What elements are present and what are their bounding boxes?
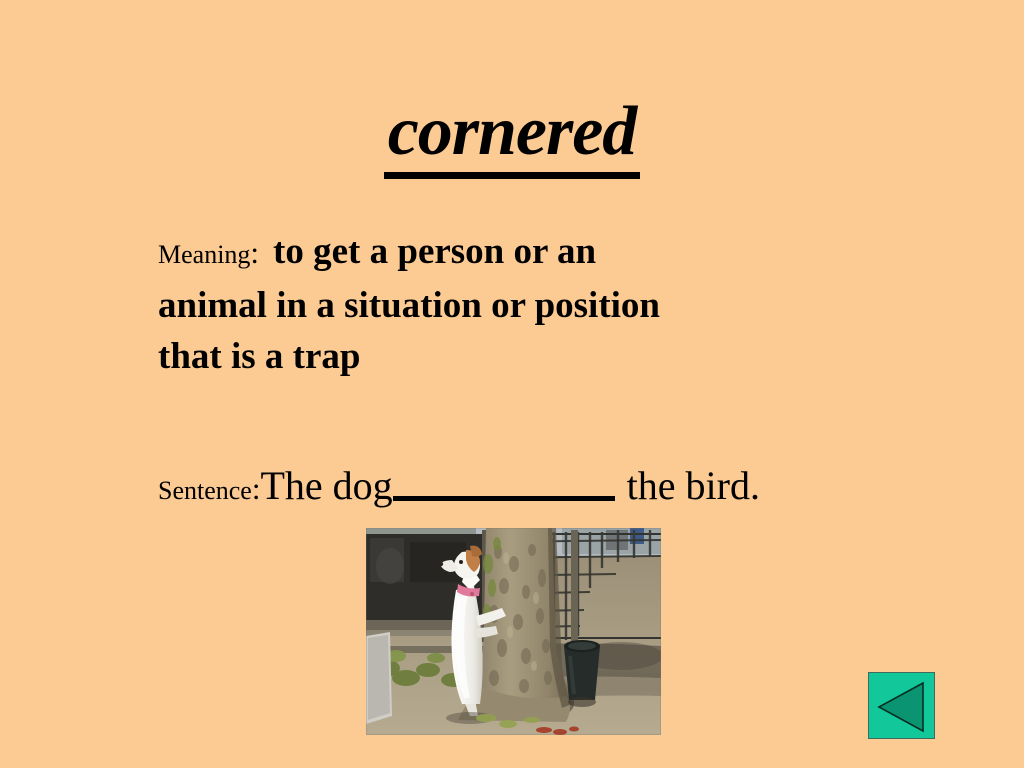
meaning-line-3: that is a trap xyxy=(158,331,958,382)
sentence-text-before-blank: The dog xyxy=(260,463,392,508)
sentence-block: Sentence:The dog the bird. xyxy=(158,462,978,515)
sentence-blank[interactable] xyxy=(393,468,615,501)
page-title: cornered xyxy=(384,95,641,179)
page-title-container: cornered xyxy=(0,95,1024,179)
sentence-line: Sentence:The dog the bird. xyxy=(158,462,978,515)
meaning-line-1: Meaning:to get a person or an xyxy=(158,226,958,280)
meaning-text-line-2: animal in a situation or position xyxy=(158,285,660,326)
dog-cornering-bird-photo xyxy=(366,528,661,735)
meaning-text-line-3: that is a trap xyxy=(158,336,360,377)
meaning-colon: : xyxy=(250,235,259,270)
sentence-label: Sentence xyxy=(158,476,252,505)
meaning-line-2: animal in a situation or position xyxy=(158,280,958,331)
meaning-block: Meaning:to get a person or an animal in … xyxy=(158,226,958,382)
meaning-label: Meaning xyxy=(158,240,250,269)
back-button[interactable] xyxy=(868,672,935,739)
slide-canvas: cornered Meaning:to get a person or an a… xyxy=(0,0,1024,768)
left-triangle-icon xyxy=(875,679,930,734)
meaning-text-line-1: to get a person or an xyxy=(273,231,596,272)
sentence-text-after-blank: the bird. xyxy=(617,463,760,508)
